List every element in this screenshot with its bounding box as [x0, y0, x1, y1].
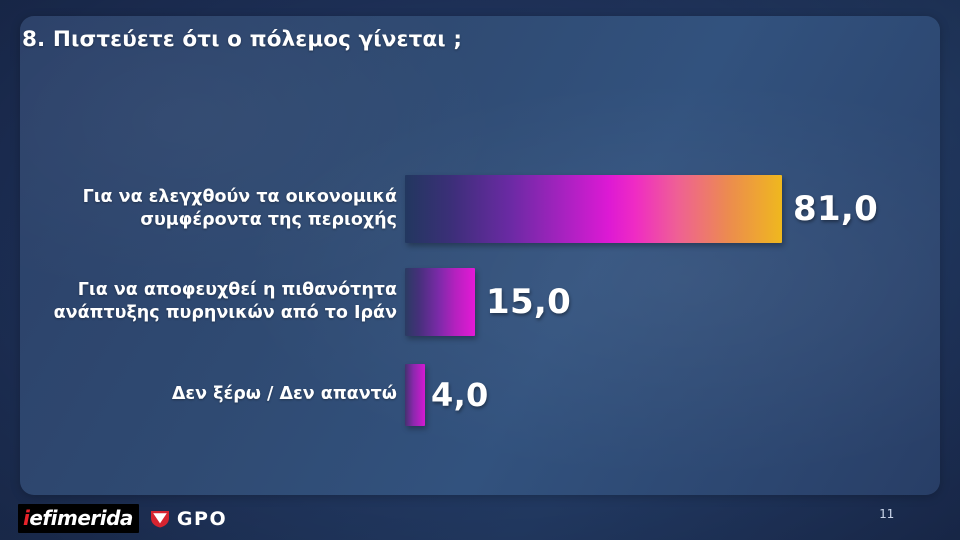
page-title: 8. Πιστεύετε ότι ο πόλεμος γίνεται ;	[22, 27, 882, 52]
category-label-2-line-1: Για να αποφευχθεί η πιθανότητα	[78, 280, 397, 300]
bar-container-3: 4,0	[405, 355, 920, 435]
bar-value-1: 81,0	[793, 189, 878, 229]
iefimerida-logo-text: efimerida	[29, 506, 133, 530]
horizontal-bar-chart: Για να ελεγχθούν τα οικονομικά συμφέροντ…	[0, 0, 920, 479]
category-label-2: Για να αποφευχθεί η πιθανότητα ανάπτυξης…	[0, 279, 405, 326]
gpo-logo-text: GPO	[177, 508, 227, 530]
gpo-logo[interactable]: GPO	[149, 508, 227, 530]
bar-2	[405, 268, 475, 336]
slide-canvas: 8. Πιστεύετε ότι ο πόλεμος γίνεται ; Για…	[0, 0, 960, 540]
brand-group: iefimerida GPO	[18, 504, 227, 533]
bar-value-3: 4,0	[431, 376, 489, 414]
bar-container-1: 81,0	[405, 166, 920, 252]
category-label-1-line-1: Για να ελεγχθούν τα οικονομικά	[83, 187, 397, 207]
category-label-2-line-2: ανάπτυξης πυρηνικών από το Ιράν	[54, 303, 397, 323]
chart-row: Δεν ξέρω / Δεν απαντώ 4,0	[0, 355, 920, 435]
iefimerida-logo[interactable]: iefimerida	[18, 504, 139, 533]
slide-footer: iefimerida GPO 11	[0, 495, 960, 540]
chart-row: Για να αποφευχθεί η πιθανότητα ανάπτυξης…	[0, 259, 920, 345]
category-label-1-line-2: συμφέροντα της περιοχής	[140, 210, 397, 230]
gpo-shield-check-icon	[149, 510, 171, 528]
bar-value-2: 15,0	[486, 282, 571, 322]
category-label-1: Για να ελεγχθούν τα οικονομικά συμφέροντ…	[0, 186, 405, 233]
bar-container-2: 15,0	[405, 259, 920, 345]
chart-row: Για να ελεγχθούν τα οικονομικά συμφέροντ…	[0, 166, 920, 252]
bar-3	[405, 364, 425, 426]
category-label-3-line-1: Δεν ξέρω / Δεν απαντώ	[172, 384, 397, 404]
category-label-3: Δεν ξέρω / Δεν απαντώ	[0, 383, 405, 406]
page-number: 11	[879, 506, 894, 521]
bar-1	[405, 175, 782, 243]
